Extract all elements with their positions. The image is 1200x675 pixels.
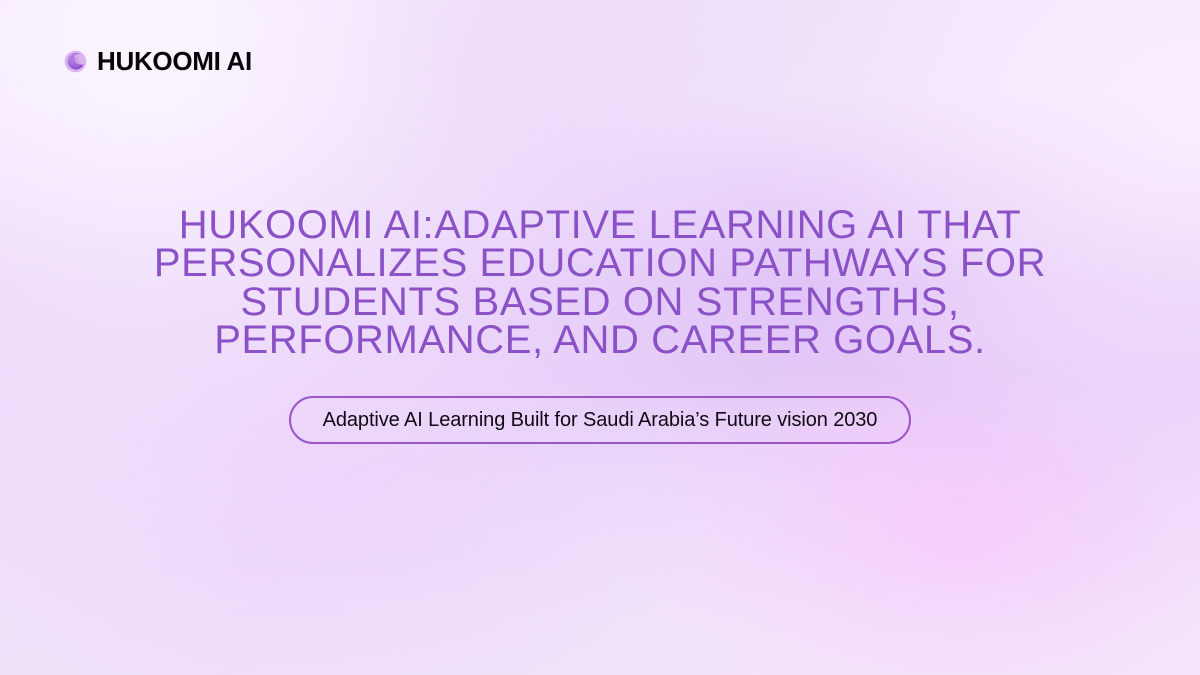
tagline-text: Adaptive AI Learning Built for Saudi Ara… xyxy=(323,410,878,430)
tagline-badge: Adaptive AI Learning Built for Saudi Ara… xyxy=(289,396,912,444)
slide-canvas: HUKOOMI AI HUKOOMI AI:ADAPTIVE LEARNING … xyxy=(0,0,1200,675)
page-title: HUKOOMI AI:ADAPTIVE LEARNING AI THAT PER… xyxy=(150,206,1050,360)
crescent-moon-icon xyxy=(64,50,87,73)
brand-name: HUKOOMI AI xyxy=(97,48,252,74)
hero-section: HUKOOMI AI:ADAPTIVE LEARNING AI THAT PER… xyxy=(0,206,1200,444)
brand-lockup: HUKOOMI AI xyxy=(64,48,252,74)
